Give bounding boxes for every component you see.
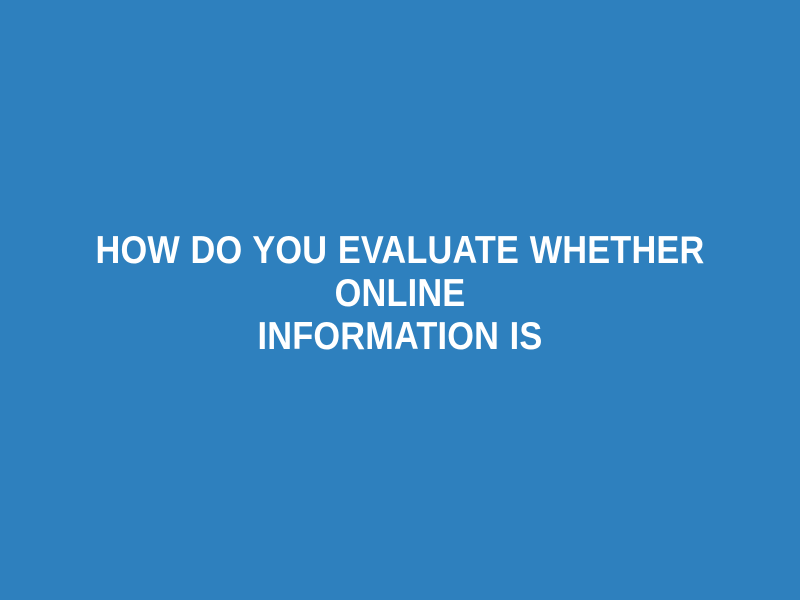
title-line-1: HOW DO YOU EVALUATE WHETHER ONLINE	[83, 229, 717, 315]
page-title: HOW DO YOU EVALUATE WHETHER ONLINE INFOR…	[83, 229, 717, 358]
title-block: HOW DO YOU EVALUATE WHETHER ONLINE INFOR…	[20, 229, 780, 358]
title-line-2: INFORMATION IS	[83, 315, 717, 358]
featured-image-card: HOW DO YOU EVALUATE WHETHER ONLINE INFOR…	[0, 0, 800, 600]
